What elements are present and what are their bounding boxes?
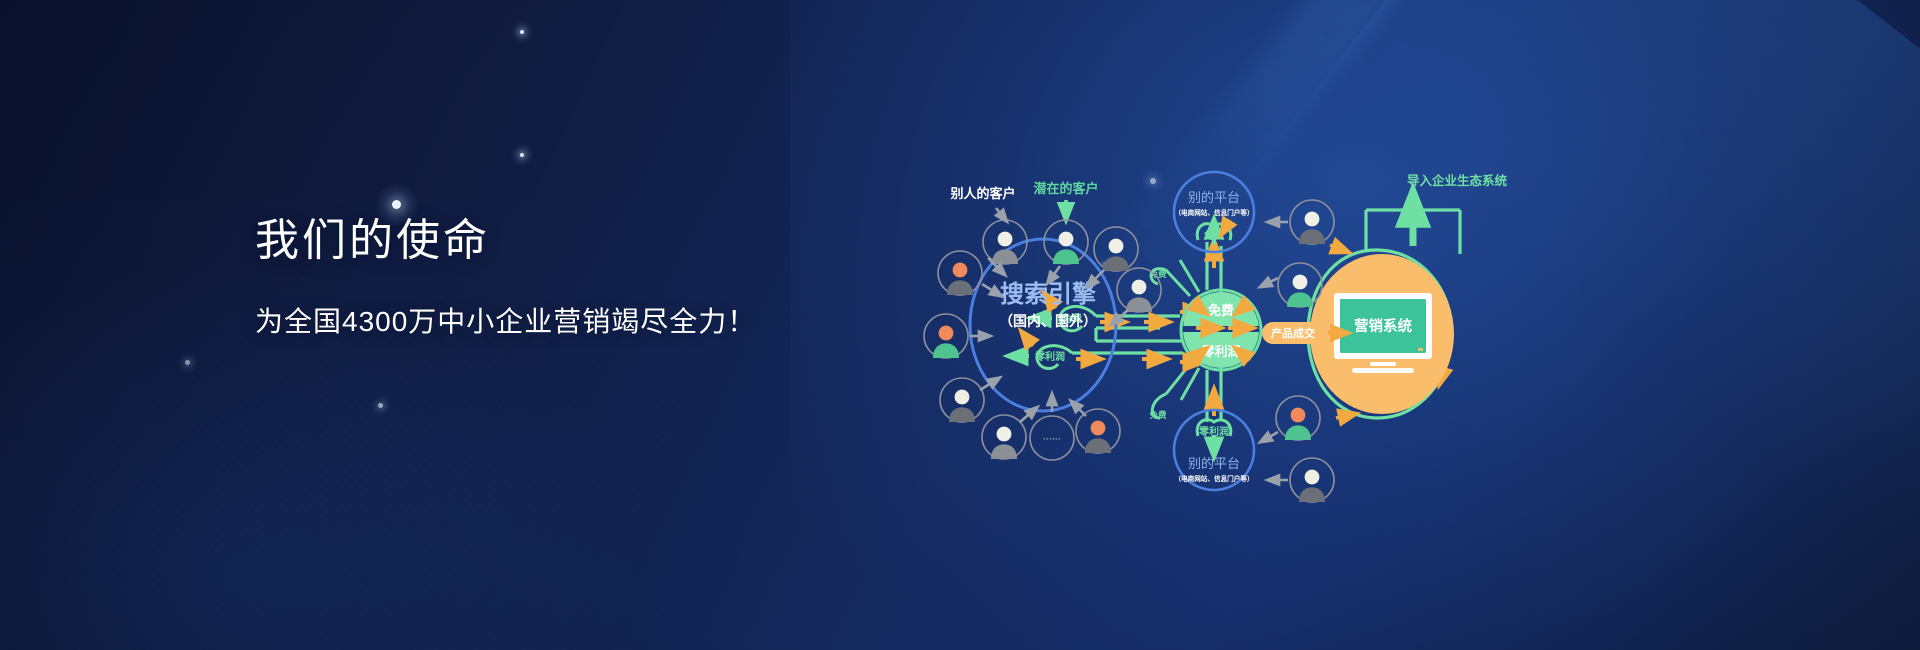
deal-badge-label: 产品成交 bbox=[1271, 326, 1315, 340]
avatar bbox=[940, 378, 984, 422]
avatar bbox=[983, 208, 1027, 264]
search-engine-subtitle: （国内、国外） bbox=[999, 313, 1097, 329]
avatar bbox=[938, 251, 982, 295]
decorative-dot bbox=[392, 200, 401, 209]
others-customers-label: 别人的客户 bbox=[949, 186, 1015, 201]
marketing-system-label: 营销系统 bbox=[1354, 317, 1412, 335]
other-platform-top-subtitle: （电商网站、信息门户等） bbox=[1174, 208, 1253, 217]
page-subtitle: 为全国4300万中小企业营销竭尽全力！ bbox=[255, 304, 895, 340]
free-loop-top-label: 免费 bbox=[1149, 269, 1167, 279]
hub-bottom-label: 零利润 bbox=[1200, 344, 1240, 359]
avatar bbox=[1044, 220, 1088, 264]
search-engine-node[interactable]: 搜索引擎 （国内、国外） bbox=[970, 239, 1116, 411]
import-ecosystem-label: 导入企业生态系统 bbox=[1407, 173, 1508, 188]
free-loop-bottom-label: 免费 bbox=[1149, 410, 1167, 420]
search-engine-title: 搜索引擎 bbox=[1000, 280, 1096, 308]
avatar bbox=[982, 415, 1026, 459]
more-placeholder-label: ······ bbox=[1043, 434, 1061, 444]
more-customers-placeholder: ······ bbox=[1030, 416, 1074, 460]
decorative-dot bbox=[520, 153, 524, 157]
marketing-ecosystem-diagram: 营销系统 导入企业生态系统 产品成交 免费 bbox=[900, 150, 1560, 520]
other-platform-top-node[interactable]: 别的平台 （电商网站、信息门户等） 免费 bbox=[1174, 172, 1254, 252]
avatar bbox=[1117, 268, 1161, 312]
avatar bbox=[924, 314, 968, 358]
avatar bbox=[1264, 396, 1320, 440]
decorative-dot bbox=[185, 360, 190, 365]
potential-customers-label: 潜在的客户 bbox=[1033, 181, 1098, 196]
zero-profit-left-label: 零利润 bbox=[1034, 350, 1065, 363]
hero-banner: 我们的使命 为全国4300万中小企业营销竭尽全力！ bbox=[0, 0, 1920, 650]
decorative-dot bbox=[520, 30, 524, 34]
avatar bbox=[1094, 227, 1138, 271]
avatar bbox=[1076, 409, 1120, 453]
other-platform-bottom-node[interactable]: 零利润 别的平台 （电商网站、信息门户等） bbox=[1174, 410, 1254, 490]
other-platform-top-title: 别的平台 bbox=[1188, 190, 1240, 205]
other-platform-bottom-subtitle: （电商网站、信息门户等） bbox=[1174, 474, 1253, 483]
hub-top-label: 免费 bbox=[1208, 303, 1234, 318]
other-platform-bottom-title: 别的平台 bbox=[1188, 456, 1240, 471]
customer-avatars: ······ bbox=[924, 200, 1334, 502]
avatar bbox=[1272, 200, 1334, 244]
hero-copy: 我们的使命 为全国4300万中小企业营销竭尽全力！ bbox=[255, 215, 895, 340]
page-title: 我们的使命 bbox=[255, 215, 895, 268]
avatar bbox=[1272, 458, 1334, 502]
hub-node[interactable]: 免费 零利润 bbox=[1181, 290, 1261, 370]
flow-channels: 免费 零利润 bbox=[1015, 298, 1196, 369]
decorative-dot bbox=[378, 403, 383, 408]
